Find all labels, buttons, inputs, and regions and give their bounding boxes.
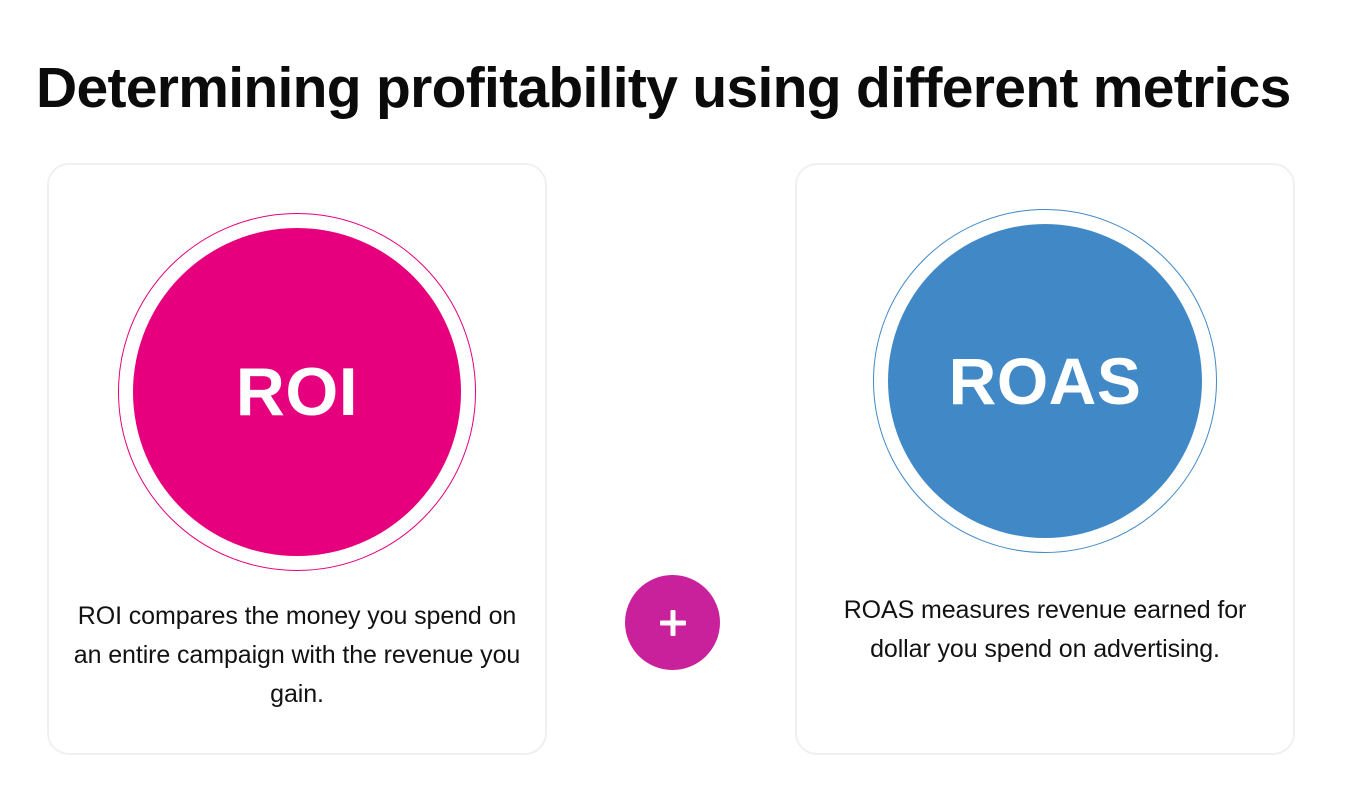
roas-circle-disc: ROAS: [888, 224, 1202, 538]
plus-icon: [660, 610, 686, 636]
metric-card-roi: ROI ROI compares the money you spend on …: [47, 163, 547, 755]
roas-caption: ROAS measures revenue earned for dollar …: [819, 591, 1271, 669]
roas-badge-label: ROAS: [949, 348, 1142, 414]
roi-circle-badge: ROI: [118, 213, 476, 571]
roi-badge-label: ROI: [236, 358, 358, 426]
metric-card-roas: ROAS ROAS measures revenue earned for do…: [795, 163, 1295, 755]
plus-connector-badge: [625, 575, 720, 670]
roas-circle-badge: ROAS: [873, 209, 1217, 553]
page-title: Determining profitability using differen…: [36, 52, 1336, 124]
roi-caption: ROI compares the money you spend on an e…: [72, 597, 522, 714]
roi-circle-disc: ROI: [133, 228, 461, 556]
metrics-comparison-row: ROI ROI compares the money you spend on …: [0, 163, 1370, 756]
